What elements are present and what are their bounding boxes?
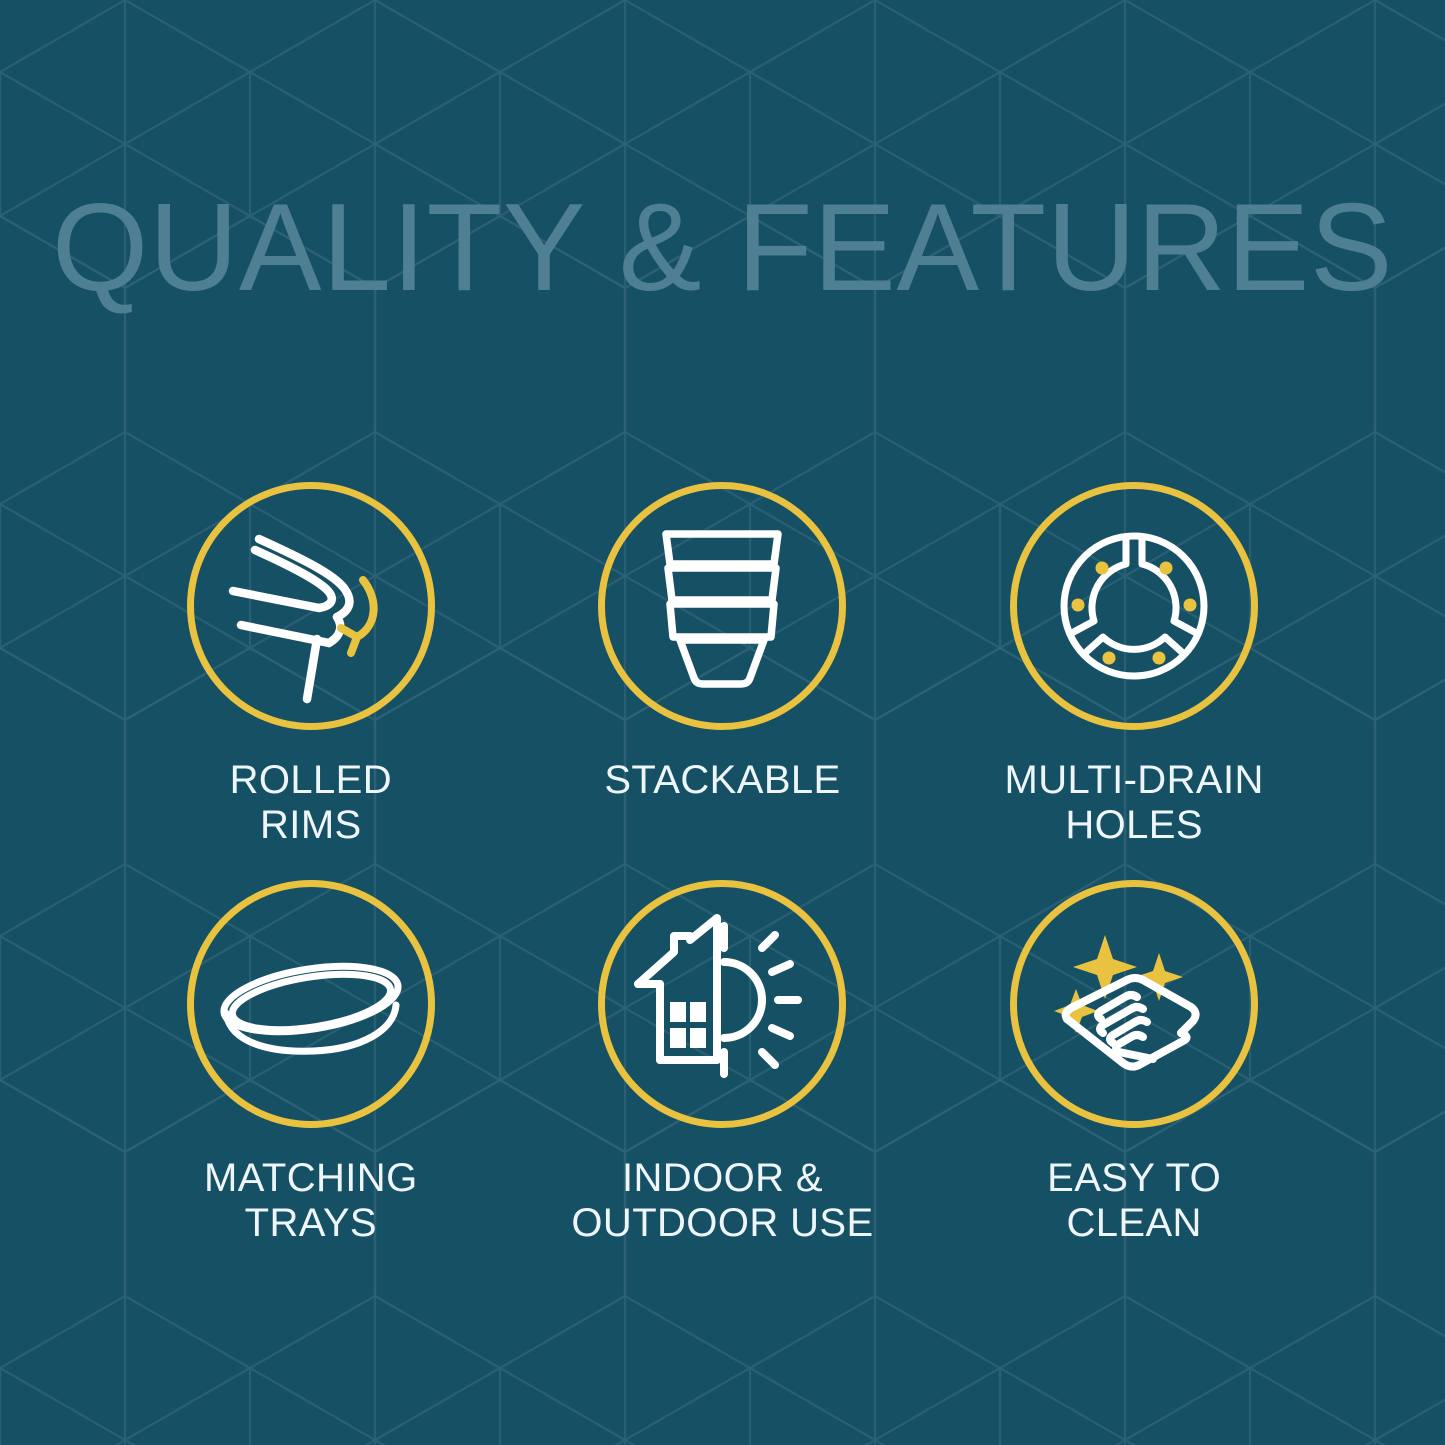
feature-item-indoor-outdoor-use[interactable]: INDOOR & OUTDOOR USE [517, 860, 929, 1258]
feature-badge-stackable [598, 482, 846, 730]
drain-holes-ring-icon [1034, 506, 1234, 706]
feature-badge-indoor-outdoor-use [598, 880, 846, 1128]
feature-badge-multi-drain-holes [1010, 482, 1258, 730]
page-title: QUALITY & FEATURES [0, 186, 1445, 310]
feature-badge-rolled-rims [187, 482, 435, 730]
feature-item-matching-trays[interactable]: MATCHING TRAYS [105, 860, 517, 1258]
feature-label-stackable: STACKABLE [604, 758, 840, 803]
house-sun-icon [622, 904, 822, 1104]
hand-wiping-sparkle-icon [1031, 901, 1237, 1107]
feature-label-easy-to-clean: EASY TO CLEAN [1047, 1156, 1221, 1246]
feature-item-rolled-rims[interactable]: ROLLED RIMS [105, 462, 517, 860]
feature-item-stackable[interactable]: STACKABLE [517, 462, 929, 860]
feature-badge-easy-to-clean [1010, 880, 1258, 1128]
stacked-pots-icon [622, 506, 822, 706]
feature-label-matching-trays: MATCHING TRAYS [204, 1156, 418, 1246]
feature-label-rolled-rims: ROLLED RIMS [230, 758, 392, 848]
feature-badge-matching-trays [187, 880, 435, 1128]
feature-infographic: QUALITY & FEATURES [0, 0, 1445, 1445]
feature-grid: ROLLED RIMS STACKABL [105, 462, 1340, 1258]
feature-item-multi-drain-holes[interactable]: MULTI-DRAIN HOLES [928, 462, 1340, 860]
oval-tray-icon [208, 901, 414, 1107]
rolled-rim-icon [211, 506, 411, 706]
feature-label-multi-drain-holes: MULTI-DRAIN HOLES [1005, 758, 1264, 848]
feature-item-easy-to-clean[interactable]: EASY TO CLEAN [928, 860, 1340, 1258]
feature-label-indoor-outdoor-use: INDOOR & OUTDOOR USE [571, 1156, 873, 1246]
